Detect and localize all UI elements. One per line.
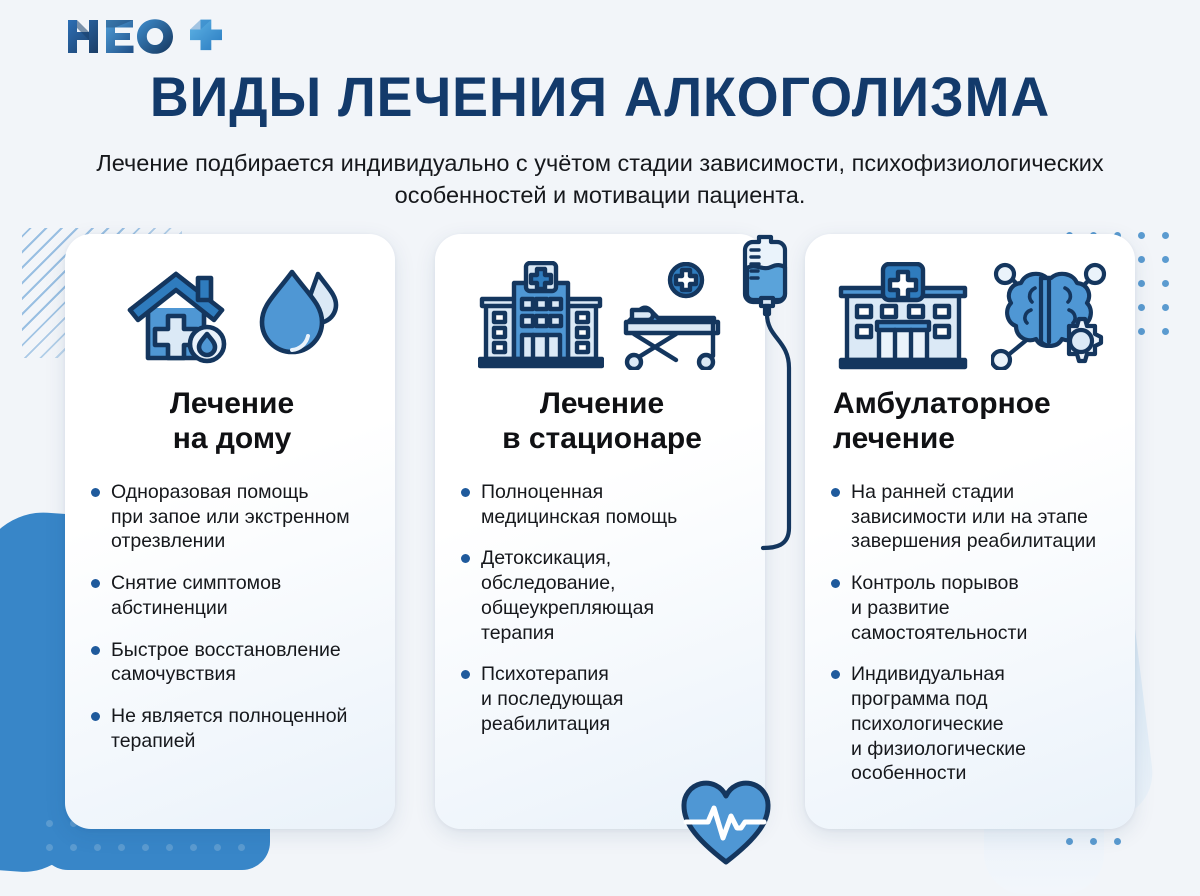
card-bullet-list: Одноразовая помощь при запое или экстрен… xyxy=(89,480,375,754)
house-with-medical-cross-icon xyxy=(124,264,242,368)
list-item: Быстрое восстановление самочувствия xyxy=(89,638,375,688)
card-icons xyxy=(829,260,1115,372)
water-drop-icon xyxy=(256,266,340,366)
card-icons xyxy=(459,260,745,372)
list-item: Индивидуальная программа под психологиче… xyxy=(829,662,1115,786)
card-icons xyxy=(89,260,375,372)
brain-with-gear-icon xyxy=(991,262,1107,370)
list-item: Снятие симптомов абстиненции xyxy=(89,571,375,621)
iv-drip-icon xyxy=(735,228,805,568)
brand-logo-neo-plus xyxy=(66,14,238,58)
list-item: Психотерапия и последующая реабилитация xyxy=(459,662,745,736)
card-title: Лечение на дому xyxy=(89,386,375,456)
card-bullet-list: Полноценная медицинская помощь Детоксика… xyxy=(459,480,745,737)
list-item: На ранней стадии зависимости или на этап… xyxy=(829,480,1115,554)
page-title: ВИДЫ ЛЕЧЕНИЯ АЛКОГОЛИЗМА xyxy=(24,68,1176,127)
card-outpatient-treatment[interactable]: Амбулаторное лечение На ранней стадии за… xyxy=(805,234,1135,829)
header: ВИДЫ ЛЕЧЕНИЯ АЛКОГОЛИЗМА Лечение подбира… xyxy=(0,0,1200,212)
card-home-treatment[interactable]: Лечение на дому Одноразовая помощь при з… xyxy=(65,234,395,829)
list-item: Контроль порывов и развитие самостоятель… xyxy=(829,571,1115,645)
hospital-building-icon xyxy=(478,261,604,371)
hospital-bed-icon xyxy=(618,262,726,370)
page-subtitle: Лечение подбирается индивидуально с учёт… xyxy=(95,147,1105,212)
treatment-cards: Лечение на дому Одноразовая помощь при з… xyxy=(0,234,1200,829)
list-item: Не является полноценной терапией xyxy=(89,704,375,754)
card-title: Амбулаторное лечение xyxy=(829,386,1115,456)
card-inpatient-treatment[interactable]: Лечение в стационаре Полноценная медицин… xyxy=(435,234,765,829)
list-item: Одноразовая помощь при запое или экстрен… xyxy=(89,480,375,554)
list-item: Полноценная медицинская помощь xyxy=(459,480,745,530)
card-title: Лечение в стационаре xyxy=(459,386,745,456)
card-bullet-list: На ранней стадии зависимости или на этап… xyxy=(829,480,1115,786)
heart-pulse-icon xyxy=(678,778,774,866)
clinic-building-icon xyxy=(837,262,969,370)
list-item: Детоксикация, обследование, общеукрепляю… xyxy=(459,546,745,645)
